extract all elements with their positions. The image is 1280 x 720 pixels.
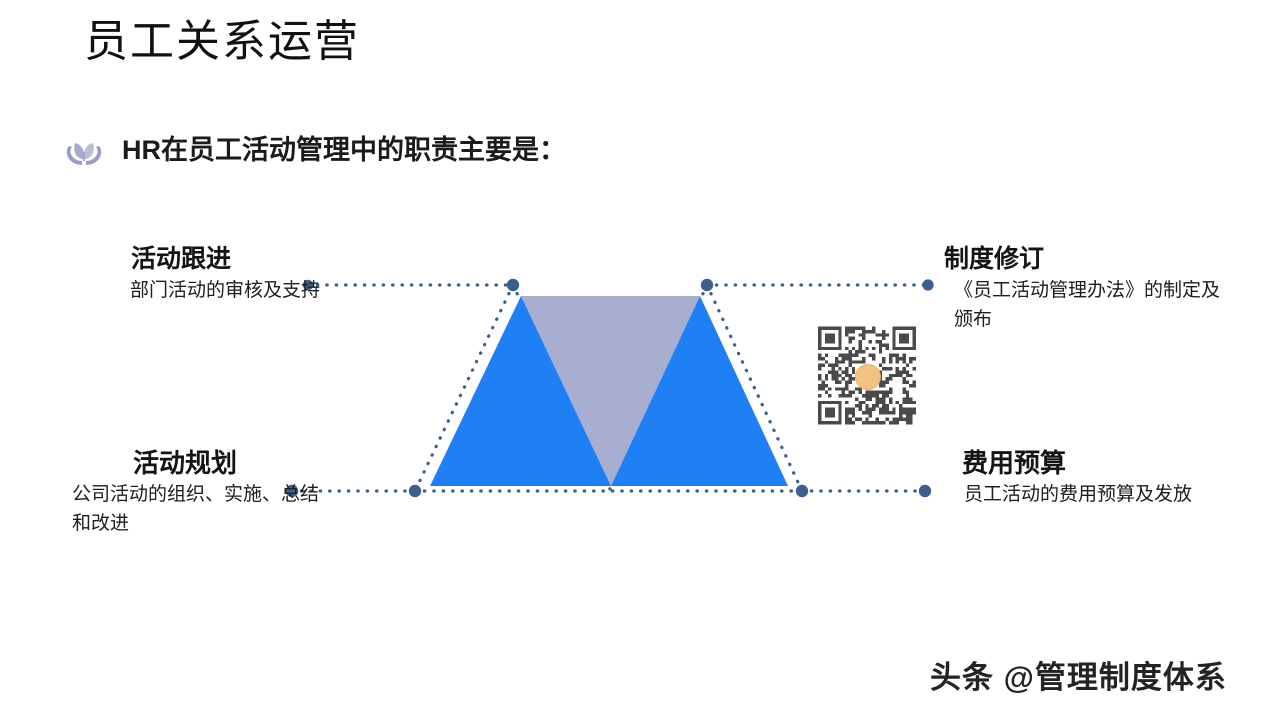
quadrant-top-right-description: 《员工活动管理办法》的制定及颁布 bbox=[944, 276, 1234, 334]
node-bottom-left-inner bbox=[409, 485, 421, 497]
central-diagram bbox=[0, 0, 1280, 720]
footer-watermark: 头条 @管理制度体系 bbox=[930, 656, 1227, 700]
node-bottom-right-inner bbox=[796, 485, 808, 497]
node-top-right-inner bbox=[701, 279, 713, 291]
page-title: 员工关系运营 bbox=[84, 12, 360, 72]
gray-inverted-triangle bbox=[521, 296, 700, 486]
quadrant-top-left-description: 部门活动的审核及支持 bbox=[60, 276, 320, 305]
qr-code-center-logo bbox=[855, 364, 881, 390]
node-top-right-outer bbox=[922, 279, 933, 290]
quadrant-bottom-right-title: 费用预算 bbox=[962, 446, 1252, 480]
connector-diagonal-left bbox=[415, 285, 513, 491]
quadrant-bottom-right-description: 员工活动的费用预算及发放 bbox=[962, 480, 1252, 509]
quadrant-top-left-title: 活动跟进 bbox=[60, 242, 320, 276]
slide-canvas: 员工关系运营 HR在员工活动管理中的职责主要是： bbox=[0, 0, 1280, 720]
quadrant-top-left: 活动跟进 部门活动的审核及支持 bbox=[60, 242, 320, 305]
blue-left-triangle bbox=[430, 296, 611, 486]
quadrant-top-right-title: 制度修订 bbox=[944, 242, 1234, 276]
subtitle-row: HR在员工活动管理中的职责主要是： bbox=[62, 128, 566, 172]
qr-code[interactable] bbox=[818, 326, 916, 425]
connector-inner-left bbox=[513, 285, 610, 489]
sprout-in-hands-icon bbox=[62, 128, 106, 172]
quadrant-bottom-left-description: 公司活动的组织、实施、总结和改进 bbox=[40, 480, 320, 538]
quadrant-bottom-left: 活动规划 公司活动的组织、实施、总结和改进 bbox=[40, 446, 320, 538]
node-top-left-inner bbox=[507, 279, 519, 291]
subtitle-text: HR在员工活动管理中的职责主要是： bbox=[122, 130, 566, 170]
quadrant-bottom-left-title: 活动规划 bbox=[40, 446, 320, 480]
connector-inner-right bbox=[612, 285, 707, 489]
connector-diagonal-right bbox=[707, 285, 802, 491]
blue-right-triangle bbox=[611, 296, 788, 486]
quadrant-top-right: 制度修订 《员工活动管理办法》的制定及颁布 bbox=[944, 242, 1234, 334]
quadrant-bottom-right: 费用预算 员工活动的费用预算及发放 bbox=[962, 446, 1252, 509]
node-bottom-right-outer bbox=[919, 485, 931, 497]
